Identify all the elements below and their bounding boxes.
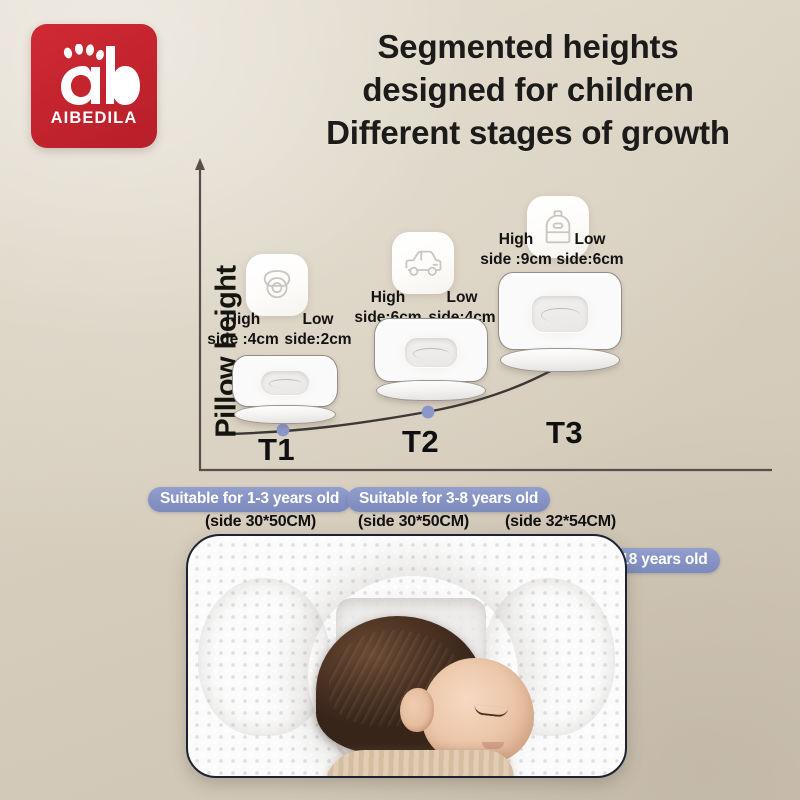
paw-ab-logo-icon [48,44,140,106]
hero-product-photo [186,534,623,800]
title-line-2: designed for children [278,69,778,112]
size-text-t2: (side 30*50CM) [358,513,469,531]
badge-age-t1: Suitable for 1-3 years old [148,487,351,512]
t1-low-dimension: Low side:2cm [280,310,356,350]
title-line-1: Segmented heights [278,26,778,69]
t1-low-label: Low [280,310,356,330]
data-point-t2 [422,406,435,419]
pillow-base-t1 [234,405,336,424]
t2-low-label: Low [424,288,500,308]
badge-age-t2: Suitable for 3-8 years old [347,487,550,512]
pillow-top-t3 [498,272,622,350]
pillow-base-t3 [500,348,619,372]
pillow-dimple-t1 [261,371,309,395]
t1-high-value: side :4cm [207,330,279,350]
pillow-illustration-t1 [232,355,336,423]
pillow-top-t2 [374,318,488,382]
pillow-dimple-t2 [405,338,457,368]
size-text-t1: (side 30*50CM) [205,513,316,531]
y-axis-label: Pillow height [211,237,244,467]
baby-photo [296,616,556,778]
pillow-illustration-t3 [498,272,620,372]
t2-high-label: High [350,288,426,308]
pillow-base-t2 [376,380,486,401]
pillow-dimple-t3 [532,296,588,332]
pacifier-icon [246,254,308,316]
t3-low-label: Low [552,230,628,250]
size-text-t3: (side 32*54CM) [505,513,616,531]
t1-high-dimension: High side :4cm [207,310,279,350]
t1-low-value: side:2cm [280,330,356,350]
y-axis-arrow-icon [195,158,205,170]
t3-low-value: side:6cm [552,250,628,270]
t1-high-label: High [207,310,279,330]
infographic-canvas: AIBEDILA Segmented heights designed for … [0,0,800,800]
brand-logo: AIBEDILA [31,24,157,148]
t3-high-dimension: High side :9cm [478,230,554,270]
toy-car-icon [392,232,454,294]
brand-name: AIBEDILA [51,109,138,128]
baby-clothing [324,750,514,778]
tick-label-t2: T2 [402,424,439,460]
page-title: Segmented heights designed for children … [278,26,778,155]
tick-label-t3: T3 [546,415,583,451]
title-line-3: Different stages of growth [278,112,778,155]
pillow-top-t1 [232,355,338,407]
t3-high-value: side :9cm [478,250,554,270]
pillow-illustration-t2 [374,318,486,400]
baby-mouth [482,742,504,749]
t3-high-label: High [478,230,554,250]
tick-label-t1: T1 [258,432,295,468]
hero-pillow [186,534,627,778]
baby-ear [400,688,434,732]
t3-low-dimension: Low side:6cm [552,230,628,270]
